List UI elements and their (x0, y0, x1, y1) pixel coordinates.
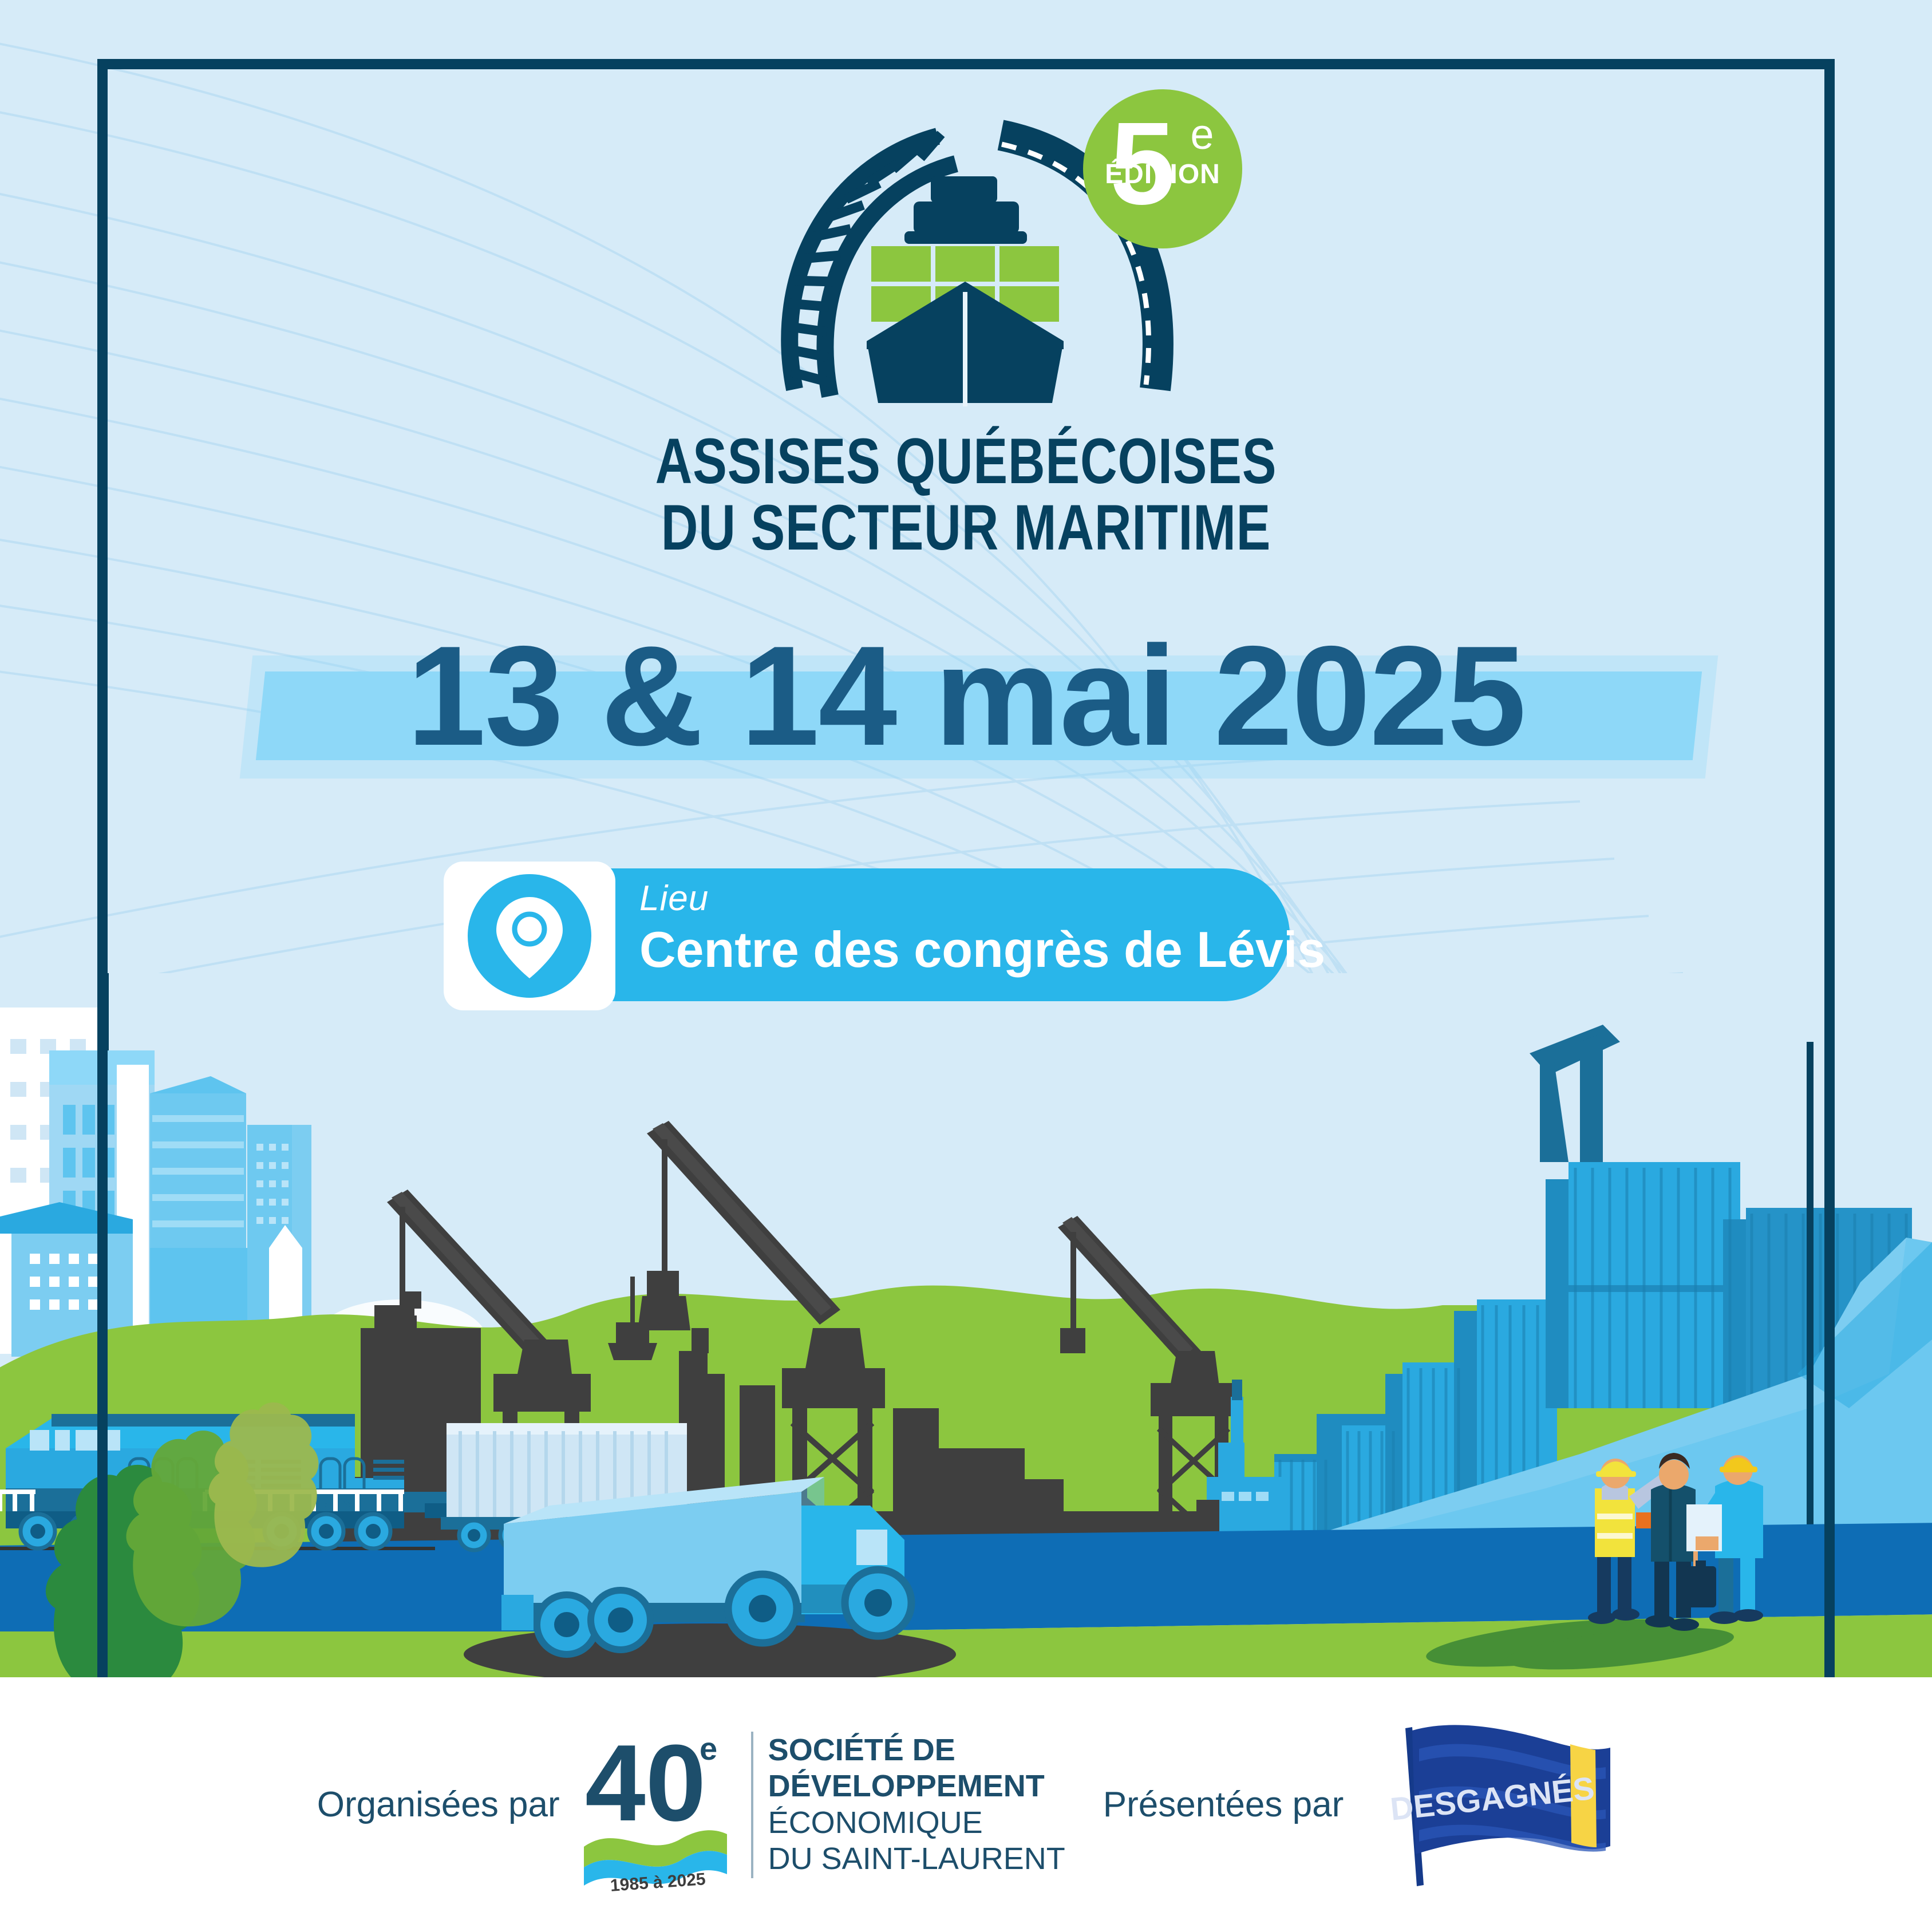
sodes-logo: 40 e 1985 à 2025 SOCIÉTÉ DE DÉVELOPPEMEN… (580, 1716, 1065, 1894)
venue-value: Centre des congrès de Lévis (639, 920, 1325, 979)
sodes-mark-icon: 40 e 1985 à 2025 (580, 1716, 736, 1894)
poster-footer: Organisées par 40 e 1985 à 2025 SOCIÉTÉ … (0, 1677, 1932, 1932)
sodes-line3: ÉCONOMIQUE (768, 1805, 1065, 1841)
date-text: 13 & 14 mai 2025 (0, 621, 1932, 770)
sodes-number: 40 (585, 1722, 706, 1844)
harbour-illustration (0, 973, 1932, 1677)
presenter-group: Présentées par DESGAGNÉS (1103, 1719, 1615, 1891)
venue-label: Lieu (639, 878, 1325, 920)
sodes-wordmark: SOCIÉTÉ DE DÉVELOPPEMENT ÉCONOMIQUE DU S… (768, 1732, 1065, 1877)
logo-title-block: ASSISES QUÉBÉCOISES DU SECTEUR MARITIME (193, 428, 1739, 562)
event-date: 13 & 14 mai 2025 (0, 621, 1932, 793)
badge-word: ÉDITION (1105, 159, 1220, 189)
sodes-divider (751, 1732, 753, 1878)
sodes-line1: SOCIÉTÉ DE (768, 1732, 1065, 1768)
logo-title-line1: ASSISES QUÉBÉCOISES (193, 428, 1739, 495)
event-logo: 5 e ÉDITION ASSISES QUÉBÉCOISES DU SECTE… (0, 103, 1932, 562)
logo-mark: 5 e ÉDITION (732, 103, 1201, 424)
organized-by-label: Organisées par (317, 1784, 560, 1825)
map-pin-icon (496, 897, 563, 978)
sodes-line2: DÉVELOPPEMENT (768, 1768, 1065, 1804)
ship-icon (867, 176, 1064, 406)
logo-title-line2: DU SECTEUR MARITIME (193, 495, 1739, 561)
presented-by-label: Présentées par (1103, 1784, 1344, 1825)
sodes-line4: DU SAINT-LAURENT (768, 1841, 1065, 1877)
desgagnes-logo: DESGAGNÉS (1386, 1719, 1615, 1891)
poster-canvas: 5 e ÉDITION ASSISES QUÉBÉCOISES DU SECTE… (0, 0, 1932, 1932)
organizer-group: Organisées par 40 e 1985 à 2025 SOCIÉTÉ … (317, 1716, 1065, 1894)
edition-badge: 5 e ÉDITION (1083, 89, 1242, 248)
badge-ordinal: e (1190, 110, 1214, 158)
venue-icon-badge (444, 862, 615, 1010)
sodes-ordinal: e (700, 1730, 717, 1767)
desgagnes-flag-logo-icon: DESGAGNÉS (1386, 1719, 1615, 1891)
venue-text: Lieu Centre des congrès de Lévis (639, 878, 1325, 979)
